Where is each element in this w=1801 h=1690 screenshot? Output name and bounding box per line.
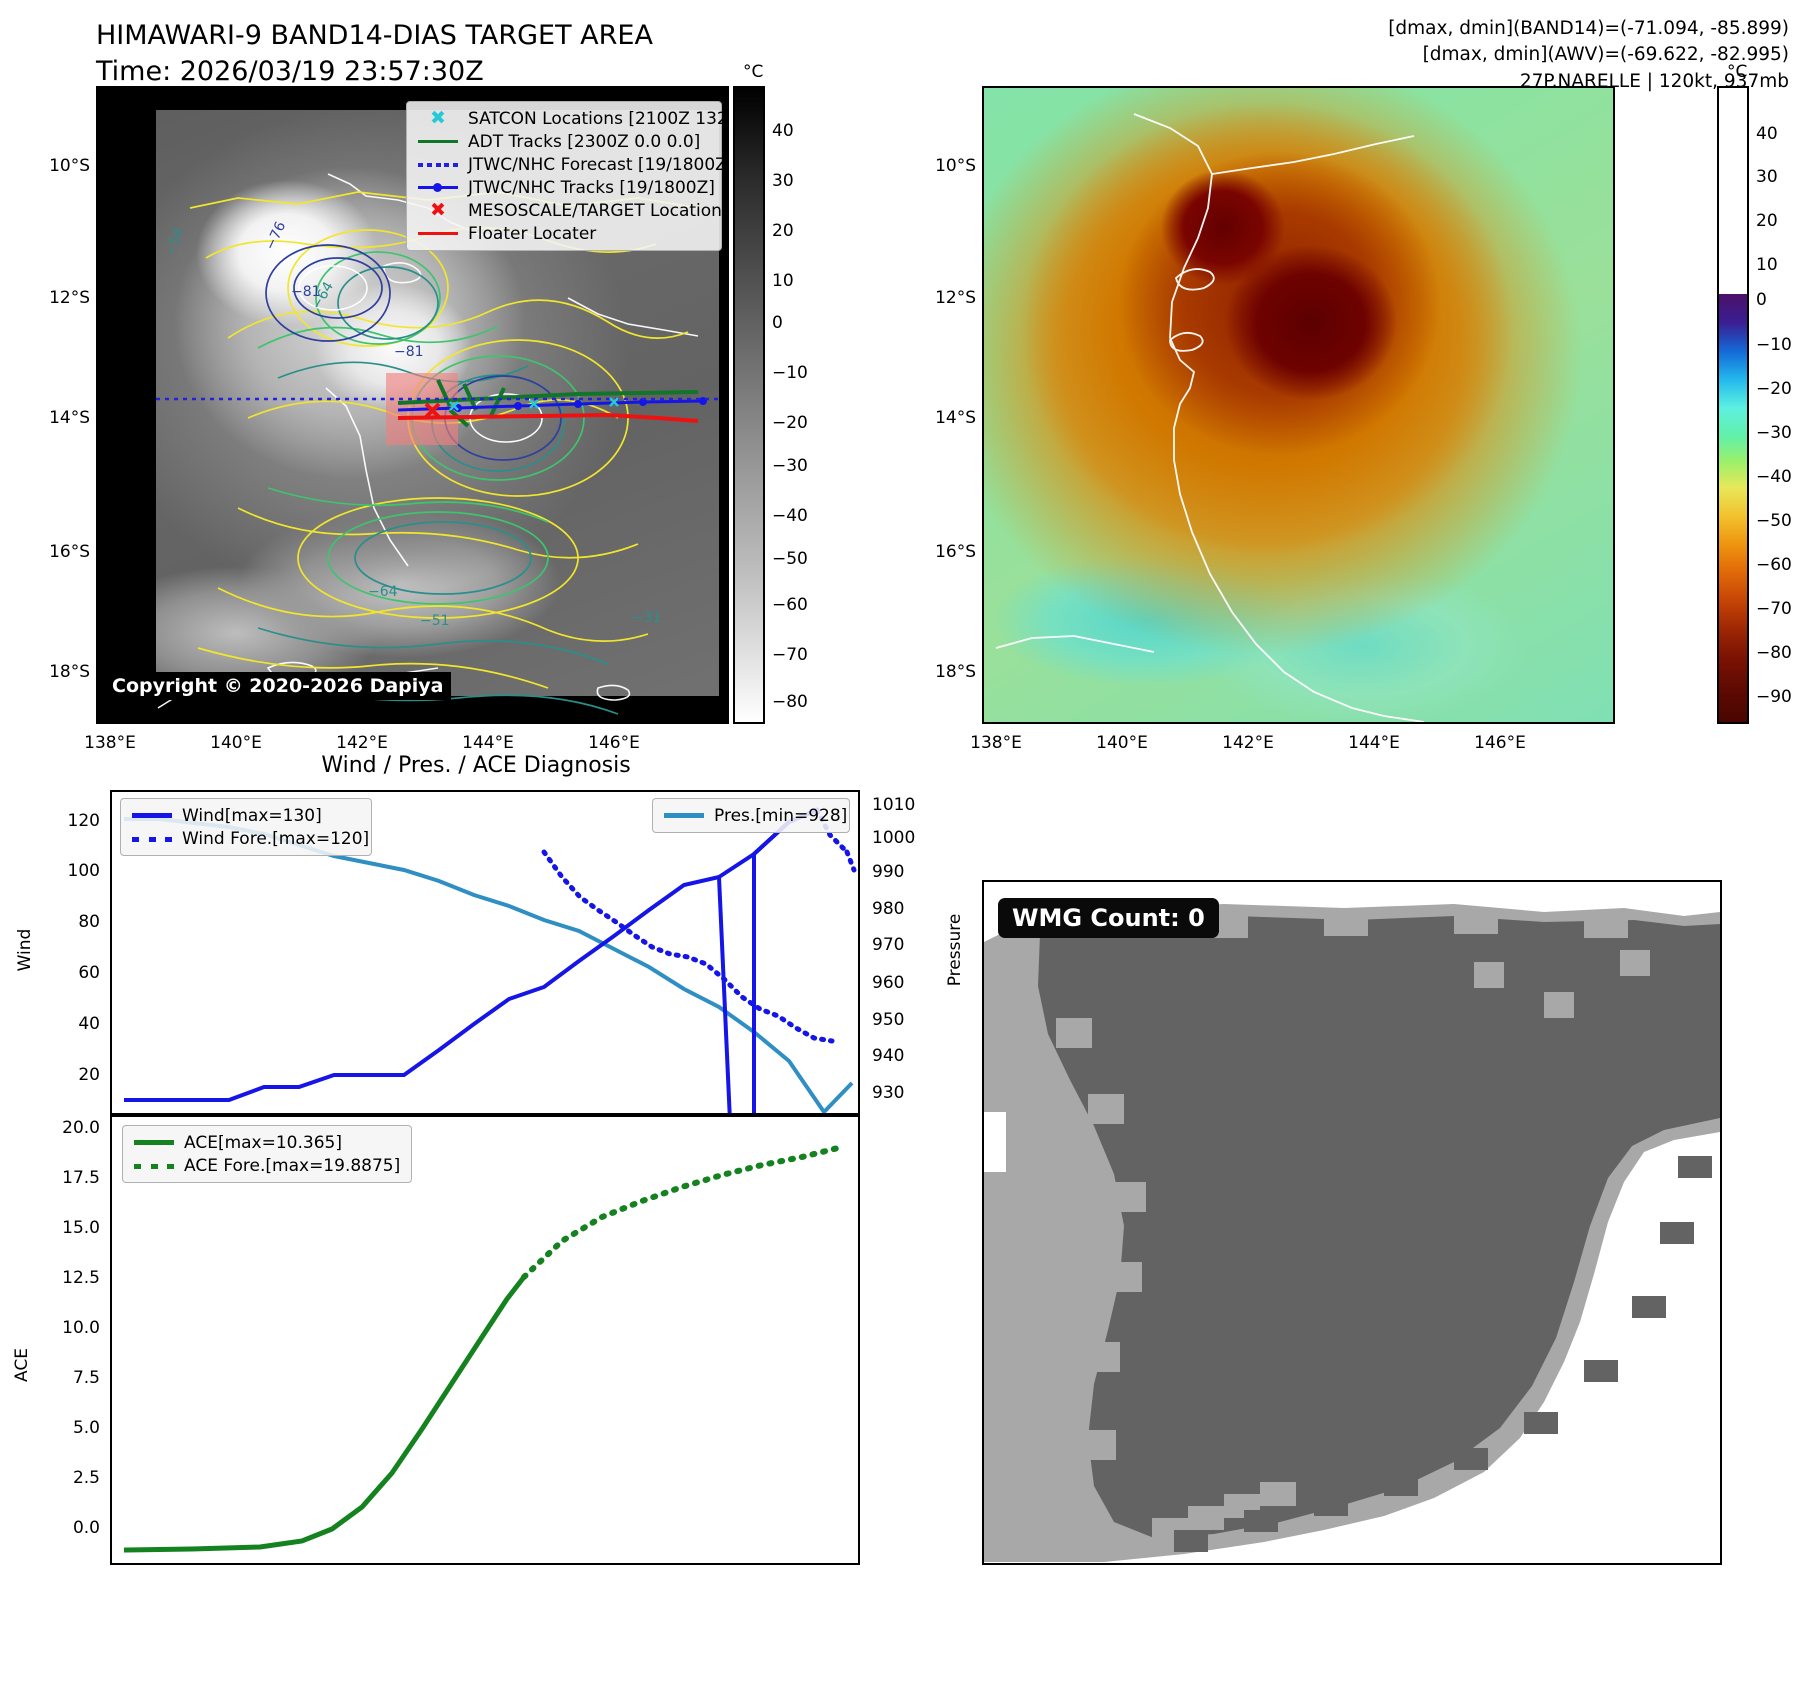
cbar-left-tick-2: 20 [772,221,794,241]
wind-axis-title: Wind [15,920,35,980]
wind-ytick-60: 60 [30,963,100,983]
lat-tick-left-0: 10°S [20,156,90,176]
ace-legend: ACE[max=10.365] ACE Fore.[max=19.8875] [122,1125,412,1183]
ace-series [124,1277,524,1550]
lon-tick-left-2: 142°E [336,733,388,753]
cbar-left-tick-10: −60 [772,595,808,615]
ace-ytick-0: 0.0 [20,1518,100,1538]
lat-tick-left-4: 18°S [20,662,90,682]
contour-label-6: −51 [420,613,450,629]
lon-tick-left-0: 138°E [84,733,136,753]
cbar-right-tick-2: 20 [1756,211,1778,231]
contour-label-7: −31 [632,610,662,626]
legend-item-ace: ACE[max=10.365] [132,1131,402,1154]
cbar-left-tick-1: 30 [772,171,794,191]
pres-ytick-980: 980 [872,899,904,919]
cbar-left-tick-6: −20 [772,413,808,433]
cbar-right-tick-4: 0 [1756,290,1767,310]
cbar-left-tick-0: 40 [772,121,794,141]
legend-label: ACE[max=10.365] [184,1133,342,1153]
pres-ytick-960: 960 [872,973,904,993]
dotted-line-icon [132,1164,176,1168]
diagnosis-title: Wind / Pres. / ACE Diagnosis [96,753,856,778]
cbar-right-tick-9: −50 [1756,511,1792,531]
pres-ytick-1000: 1000 [872,828,915,848]
lon-tick-right-3: 144°E [1348,733,1400,753]
page-title: HIMAWARI-9 BAND14-DIAS TARGET AREA Time:… [96,18,653,91]
pres-ytick-1010: 1010 [872,795,915,815]
contour-label-5: −64 [368,584,398,600]
pres-ytick-940: 940 [872,1046,904,1066]
cbar-right-tick-1: 30 [1756,167,1778,187]
ace-ytick-10: 10.0 [20,1318,100,1338]
colorbar-unit-left: °C [743,62,763,82]
lon-tick-left-4: 146°E [588,733,640,753]
wind-ytick-40: 40 [30,1014,100,1034]
cbar-right-tick-3: 10 [1756,255,1778,275]
legend-label: ACE Fore.[max=19.8875] [184,1156,400,1176]
lat-tick-right-3: 16°S [906,542,976,562]
legend-label: ADT Tracks [2300Z 0.0 0.0] [468,132,700,152]
ir-enhanced-map[interactable] [982,86,1615,724]
ace-ytick-175: 17.5 [20,1168,100,1188]
solid-line-icon [416,140,460,144]
legend-item-mesoscale: ✖ MESOSCALE/TARGET Location [416,199,712,222]
ace-ytick-75: 7.5 [20,1368,100,1388]
lat-tick-right-2: 14°S [906,408,976,428]
legend-item-ace-forecast: ACE Fore.[max=19.8875] [132,1154,402,1177]
wind-ytick-80: 80 [30,912,100,932]
pres-ytick-950: 950 [872,1010,904,1030]
cbar-right-tick-6: −20 [1756,379,1792,399]
legend-item-wind: Wind[max=130] [130,804,362,827]
lat-tick-right-0: 10°S [906,156,976,176]
colorbar-enhanced[interactable] [1717,86,1749,724]
legend-label: SATCON Locations [2100Z 132 930] [468,109,729,129]
x-marker-icon: ✖ [416,109,460,128]
lat-tick-left-1: 12°S [20,288,90,308]
cbar-right-tick-12: −80 [1756,643,1792,663]
legend-label: JTWC/NHC Tracks [19/1800Z] [468,178,715,198]
lon-tick-left-1: 140°E [210,733,262,753]
ace-chart[interactable]: ACE[max=10.365] ACE Fore.[max=19.8875] [110,1115,860,1565]
ir-enhanced-overlay [984,88,1615,724]
cbar-left-tick-8: −40 [772,506,808,526]
legend-item-floater: Floater Locater [416,222,712,245]
header-stats: [dmax, dmin](BAND14)=(-71.094, -85.899) … [1388,16,1789,95]
cbar-left-tick-4: 0 [772,313,783,333]
cbar-right-tick-0: 40 [1756,124,1778,144]
wind-ytick-100: 100 [30,861,100,881]
ir-grayscale-map[interactable]: −76 −54 −81 −64 −81 −64 −51 −31 ✖ SATCON… [96,86,729,724]
solid-line-icon [130,813,174,818]
legend-label: JTWC/NHC Forecast [19/1800Z] [468,155,729,175]
cbar-left-tick-3: 10 [772,271,794,291]
cbar-left-tick-12: −80 [772,692,808,712]
contour-teal [258,267,618,714]
map-legend: ✖ SATCON Locations [2100Z 132 930] ADT T… [406,101,722,251]
wmg-count-badge: WMG Count: 0 [998,898,1219,938]
ace-ytick-25: 2.5 [20,1468,100,1488]
cbar-left-tick-7: −30 [772,456,808,476]
cbar-left-tick-11: −70 [772,645,808,665]
dotted-line-icon [416,163,460,167]
colorbar-unit-right: °C [1727,62,1747,82]
lat-tick-left-2: 14°S [20,408,90,428]
legend-label: Wind Fore.[max=120] [182,829,369,849]
legend-item-pressure: Pres.[min=928] [662,804,840,827]
dashboard-root: HIMAWARI-9 BAND14-DIAS TARGET AREA Time:… [0,0,1801,1690]
lon-tick-right-0: 138°E [970,733,1022,753]
legend-label: Floater Locater [468,224,596,244]
wmg-mask-imagery [984,882,1720,1563]
pres-ytick-930: 930 [872,1083,904,1103]
cbar-right-tick-11: −70 [1756,599,1792,619]
wmg-map-panel[interactable]: WMG Count: 0 [982,880,1722,1565]
cbar-right-tick-13: −90 [1756,687,1792,707]
wind-pressure-chart[interactable]: Wind[max=130] Wind Fore.[max=120] Pres.[… [110,790,860,1115]
coastline-paths [996,114,1424,722]
lon-tick-right-4: 146°E [1474,733,1526,753]
colorbar-grayscale[interactable] [733,86,765,724]
cbar-right-tick-10: −60 [1756,555,1792,575]
legend-item-jtwc-tracks: JTWC/NHC Tracks [19/1800Z] [416,176,712,199]
legend-item-wind-forecast: Wind Fore.[max=120] [130,827,362,850]
ace-ytick-125: 12.5 [20,1268,100,1288]
legend-item-jtwc-forecast: JTWC/NHC Forecast [19/1800Z] [416,153,712,176]
wind-legend: Wind[max=130] Wind Fore.[max=120] [120,798,372,856]
pressure-axis-title: Pressure [945,910,965,990]
legend-item-satcon: ✖ SATCON Locations [2100Z 132 930] [416,107,712,130]
cbar-right-tick-8: −40 [1756,467,1792,487]
cbar-right-tick-7: −30 [1756,423,1792,443]
lat-tick-right-4: 18°S [906,662,976,682]
dotted-line-icon [130,837,174,841]
lat-tick-right-1: 12°S [906,288,976,308]
legend-label: Pres.[min=928] [714,806,847,826]
stat-band14: [dmax, dmin](BAND14)=(-71.094, -85.899) [1388,16,1789,42]
lat-tick-left-3: 16°S [20,542,90,562]
solid-line-icon [132,1140,176,1145]
legend-item-adt: ADT Tracks [2300Z 0.0 0.0] [416,130,712,153]
solid-line-icon [662,813,706,818]
solid-line-icon [416,232,460,236]
lon-tick-left-3: 144°E [462,733,514,753]
cbar-right-tick-5: −10 [1756,335,1792,355]
line-with-dot-icon [416,186,460,190]
ace-ytick-5: 5.0 [20,1418,100,1438]
contour-label-4: −81 [394,344,424,360]
x-marker-icon: ✖ [416,201,460,220]
pres-ytick-990: 990 [872,862,904,882]
copyright-notice: Copyright © 2020-2026 Dapiya [104,672,451,700]
legend-label: MESOSCALE/TARGET Location [468,201,722,221]
pres-ytick-970: 970 [872,935,904,955]
ace-ytick-15: 15.0 [20,1218,100,1238]
lon-tick-right-2: 142°E [1222,733,1274,753]
lon-tick-right-1: 140°E [1096,733,1148,753]
ace-plot [112,1117,858,1563]
wind-ytick-120: 120 [30,811,100,831]
pressure-legend: Pres.[min=928] [652,798,850,833]
cbar-left-tick-9: −50 [772,549,808,569]
title-line-1: HIMAWARI-9 BAND14-DIAS TARGET AREA [96,18,653,54]
cbar-left-tick-5: −10 [772,363,808,383]
ace-axis-title: ACE [12,1335,32,1395]
ace-forecast-series [524,1148,838,1277]
ace-ytick-20: 20.0 [20,1118,100,1138]
wind-ytick-20: 20 [30,1065,100,1085]
legend-label: Wind[max=130] [182,806,322,826]
